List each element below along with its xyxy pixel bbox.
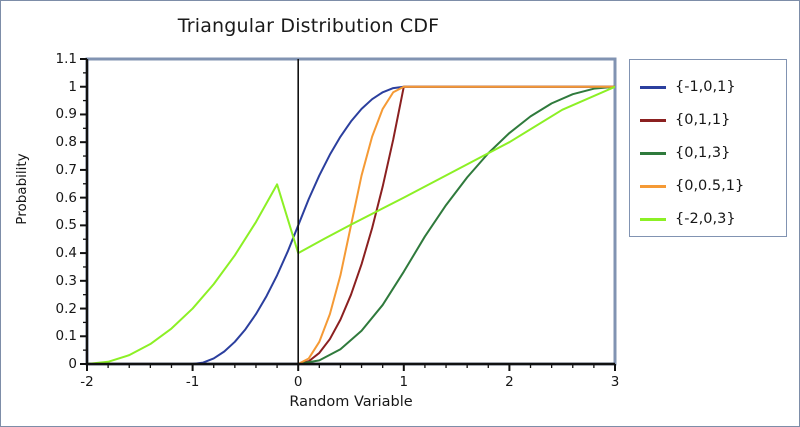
legend-item[interactable]: {-1,0,1} xyxy=(640,76,736,98)
y-tick-label: 0.3 xyxy=(35,273,77,289)
x-tick-label: 1 xyxy=(400,374,409,390)
legend-item-label: {0,1,1} xyxy=(675,112,730,128)
legend-item[interactable]: {0,1,1} xyxy=(640,109,730,131)
y-tick-label: 0.8 xyxy=(35,134,77,150)
legend-swatch-icon xyxy=(640,119,666,122)
legend: {-1,0,1}{0,1,1}{0,1,3}{0,0.5,1}{-2,0,3} xyxy=(629,59,787,237)
y-tick-label: 0.9 xyxy=(35,106,77,122)
x-tick-label: 3 xyxy=(611,374,620,390)
x-tick-label: 0 xyxy=(294,374,303,390)
y-tick-label: 0.4 xyxy=(35,245,77,261)
legend-item[interactable]: {0,0.5,1} xyxy=(640,175,744,197)
x-axis-title: Random Variable xyxy=(87,394,615,410)
y-tick-label: 0.2 xyxy=(35,301,77,317)
legend-item-label: {-2,0,3} xyxy=(675,211,736,227)
y-tick-label: 0.1 xyxy=(35,328,77,344)
legend-item-label: {-1,0,1} xyxy=(675,79,736,95)
legend-swatch-icon xyxy=(640,86,666,89)
chart-canvas: Triangular Distribution CDF Probability … xyxy=(0,0,800,427)
y-tick-label: 0.5 xyxy=(35,217,77,233)
legend-swatch-icon xyxy=(640,185,666,188)
x-tick-label: -2 xyxy=(80,374,93,390)
y-axis-title: Probability xyxy=(14,139,30,239)
legend-item-label: {0,1,3} xyxy=(675,145,730,161)
y-tick-label: 0.6 xyxy=(35,190,77,206)
y-tick-label: 1 xyxy=(35,79,77,95)
legend-item[interactable]: {-2,0,3} xyxy=(640,208,736,230)
x-tick-label: 2 xyxy=(505,374,514,390)
legend-item[interactable]: {0,1,3} xyxy=(640,142,730,164)
legend-swatch-icon xyxy=(640,218,666,221)
legend-swatch-icon xyxy=(640,152,666,155)
y-tick-label: 1.1 xyxy=(35,51,77,67)
x-tick-label: -1 xyxy=(186,374,199,390)
plot-frame xyxy=(87,59,615,364)
y-tick-label: 0 xyxy=(35,356,77,372)
y-tick-label: 0.7 xyxy=(35,162,77,178)
legend-item-label: {0,0.5,1} xyxy=(675,178,744,194)
